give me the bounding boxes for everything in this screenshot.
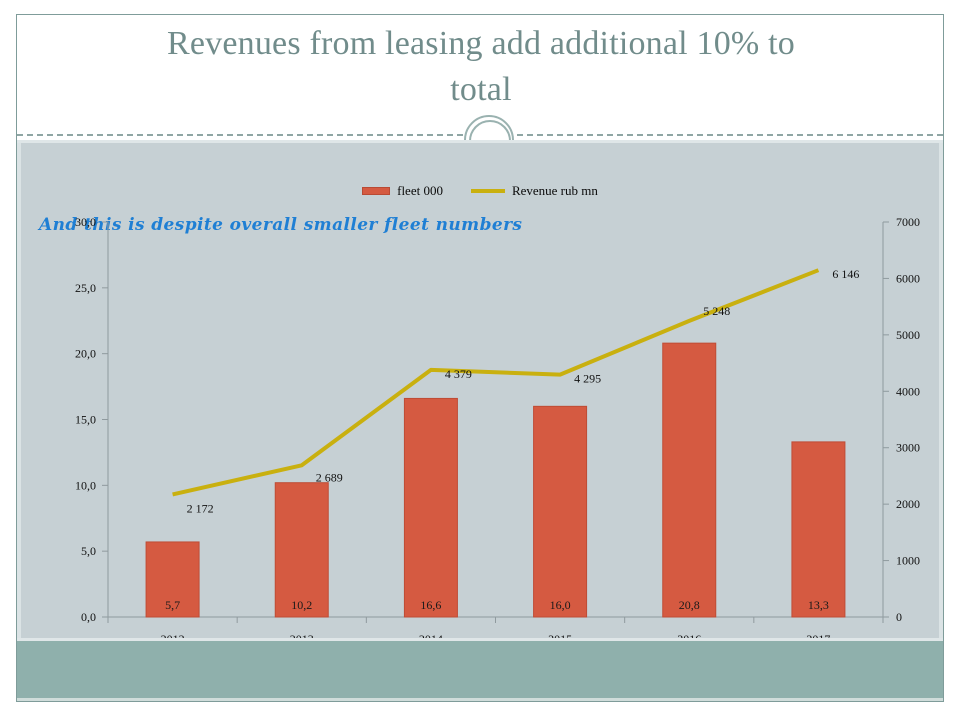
- line-value-label: 2 689: [316, 470, 343, 484]
- bar[interactable]: [275, 483, 328, 617]
- bar-value-label: 20,8: [679, 598, 700, 612]
- right-axis-tick-label: 7000: [896, 215, 920, 229]
- left-axis-tick-label: 0,0: [81, 610, 96, 624]
- left-axis-tick-label: 5,0: [81, 544, 96, 558]
- right-axis-tick-label: 1000: [896, 554, 920, 568]
- line-series: 2 1722 6894 3794 2955 2486 146: [173, 267, 860, 515]
- line-value-label: 5 248: [703, 304, 730, 318]
- bar[interactable]: [534, 406, 587, 617]
- bar-value-label: 16,6: [420, 598, 441, 612]
- bar[interactable]: [404, 398, 457, 617]
- chart-svg: 0,05,010,015,020,025,030,0 0100020003000…: [17, 143, 944, 663]
- right-axis-tick-label: 4000: [896, 384, 920, 398]
- page-title: Revenues from leasing add additional 10%…: [57, 21, 905, 113]
- line-value-label: 4 295: [574, 372, 601, 386]
- bar-value-label: 13,3: [808, 598, 829, 612]
- left-axis-tick-label: 25,0: [75, 281, 96, 295]
- right-axis-tick-label: 3000: [896, 441, 920, 455]
- slide-canvas: Revenues from leasing add additional 10%…: [16, 14, 944, 702]
- bar-series: 5,710,216,616,020,813,3: [146, 343, 845, 617]
- line-value-label: 4 379: [445, 367, 472, 381]
- bar-value-label: 16,0: [550, 598, 571, 612]
- right-axis-tick-label: 2000: [896, 497, 920, 511]
- footer-band: [17, 638, 943, 701]
- left-axis-tick-label: 10,0: [75, 478, 96, 492]
- right-axis-tick-label: 5000: [896, 328, 920, 342]
- left-axis-tick-label: 20,0: [75, 347, 96, 361]
- line-value-label: 6 146: [832, 267, 859, 281]
- line-value-label: 2 172: [187, 501, 214, 515]
- bar[interactable]: [663, 343, 716, 617]
- chart-body: fleet 000 Revenue rub mn And this is des…: [17, 140, 943, 660]
- bar-value-label: 10,2: [291, 598, 312, 612]
- right-axis-tick-label: 6000: [896, 271, 920, 285]
- bar[interactable]: [792, 442, 845, 617]
- left-axis: 0,05,010,015,020,025,030,0: [75, 215, 108, 624]
- right-axis: 01000200030004000500060007000: [883, 215, 920, 624]
- left-axis-tick-label: 30,0: [75, 215, 96, 229]
- right-axis-tick-label: 0: [896, 610, 902, 624]
- left-axis-tick-label: 15,0: [75, 413, 96, 427]
- bar-value-label: 5,7: [165, 598, 180, 612]
- plot-area: 0,05,010,015,020,025,030,0 0100020003000…: [17, 143, 944, 663]
